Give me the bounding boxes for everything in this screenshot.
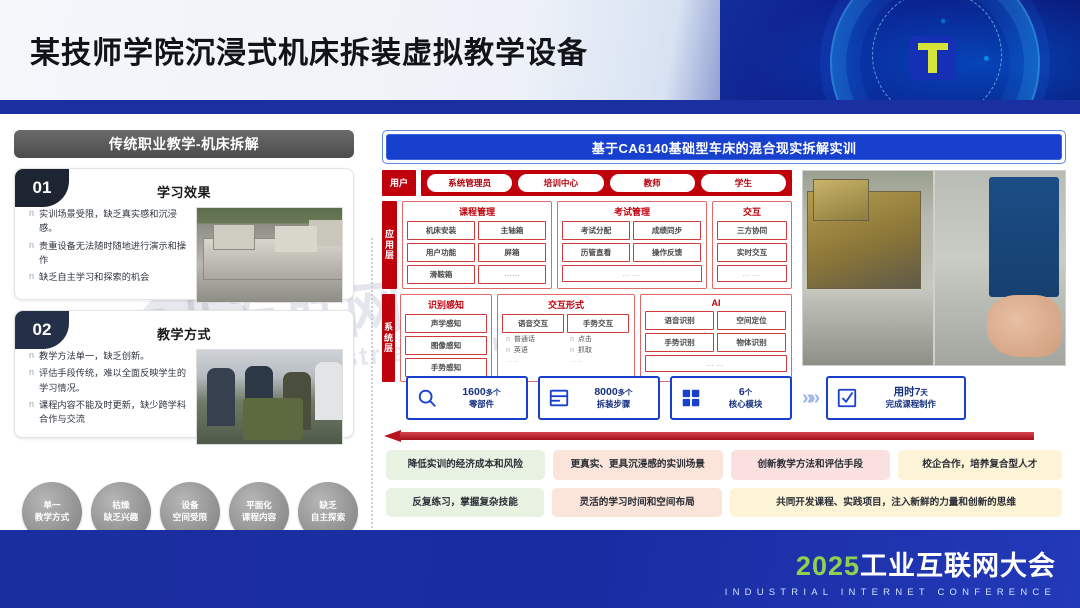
stats-row: 1600多个 零部件 8000多个 拆装步骤 [406, 376, 1046, 420]
benefit-chip: 反复练习，掌握复杂技能 [386, 488, 544, 518]
benefit-chip: 共同开发课程、实践项目，注入新鲜的力量和创新的思维 [730, 488, 1062, 518]
list-item: n英语 [506, 346, 566, 357]
benefits-row-2: 反复练习，掌握复杂技能 灵活的学习时间和空间布局 共同开发课程、实践项目，注入新… [386, 488, 1062, 518]
user-role-pill: 学生 [701, 174, 786, 192]
bullet-text: 课程内容不能及时更新，缺少跨学科合作与交流 [39, 398, 190, 427]
benefits-section: 降低实训的经济成本和风险 更真实、更具沉浸感的实训场景 创新教学方法和评估手段 … [386, 450, 1062, 525]
feature-cell-more: …… [478, 265, 546, 284]
header-accent-bar [0, 100, 1080, 114]
group-cells: 考试分配 成绩同步 历管直看 操作反馈 …… [562, 221, 702, 282]
benefits-row-1: 降低实训的经济成本和风险 更真实、更具沉浸感的实训场景 创新教学方法和评估手段 … [386, 450, 1062, 480]
stat-value: 用时7 [894, 386, 921, 398]
stat-text: 6个 核心模块 [709, 386, 782, 411]
stat-label: 拆装步骤 [577, 399, 650, 410]
feature-cell: 主轴箱 [478, 221, 546, 240]
slide-header: 某技师学院沉浸式机床拆装虚拟教学设备 [0, 0, 1080, 100]
list-item: n普通话 [506, 335, 566, 346]
user-role-pill: 系统管理员 [427, 174, 512, 192]
stat-label: 完成课程制作 [865, 399, 956, 410]
sub-item-text: 抓取 [578, 346, 592, 357]
list-item: n评估手段传统，难以全面反映学生的学习情况。 [29, 366, 190, 395]
oval-line2: 空间受限 [173, 512, 207, 524]
stat-value: 8000 [594, 386, 617, 398]
header-logo-icon [910, 36, 956, 80]
sub-item-text: 点击 [578, 335, 592, 346]
group-title: AI [645, 298, 787, 308]
list-item: n实训场景受限，缺乏真实感和沉浸感。 [29, 207, 190, 236]
architecture-row-users: 用户 系统管理员 培训中心 教师 学生 [382, 170, 792, 196]
group-course-management: 课程管理 机床安装 主轴箱 用户功能 屏箱 滑鞍箱 …… [402, 201, 552, 289]
feature-cell: 实时交互 [717, 243, 787, 262]
user-role-pill: 培训中心 [518, 174, 603, 192]
slide-footer: 2025工业互联网大会 INDUSTRIAL INTERNET CONFEREN… [0, 530, 1080, 608]
feature-cell-more: …… [645, 355, 787, 372]
hand-device-photo [934, 170, 1066, 366]
stat-number: 1600多个 [445, 386, 518, 400]
stat-number: 用时7天 [865, 386, 956, 400]
stat-card-modules: 6个 核心模块 [670, 376, 792, 420]
oval-line2: 课程内容 [242, 512, 276, 524]
stat-text: 8000多个 拆装步骤 [577, 386, 650, 411]
card-heading: 学习效果 [25, 182, 343, 201]
interaction-sub-lists: n普通话 n英语 …… n点击 n抓取 …… [502, 333, 630, 367]
sub-list-gesture: n点击 n抓取 …… [566, 335, 630, 367]
sub-item-text: 普通话 [514, 335, 535, 346]
chevron-right-icon: »» [802, 387, 816, 410]
feature-cell: 历管直看 [562, 243, 630, 262]
left-panel-title: 传统职业教学-机床拆解 [14, 130, 354, 158]
card-body: n教学方法单一，缺乏创新。 n评估手段传统，难以全面反映学生的学习情况。 n课程… [25, 349, 343, 445]
group-interaction: 交互 三方协同 实时交互 …… [712, 201, 792, 289]
layer-label-application: 应用层 [382, 201, 397, 289]
right-panel: 基于CA6140基础型车床的混合现实拆解实训 用户 系统管理员 培训中心 教师 … [382, 130, 1066, 530]
bullet-text: 实训场景受限，缺乏真实感和沉浸感。 [39, 207, 190, 236]
architecture-row-application: 应用层 课程管理 机床安装 主轴箱 用户功能 屏箱 滑鞍箱 …… [382, 201, 792, 289]
list-item: n抓取 [570, 346, 630, 357]
arrow-shaft [400, 432, 1034, 440]
user-role-bar: 系统管理员 培训中心 教师 学生 [421, 170, 792, 196]
stat-card-steps: 8000多个 拆装步骤 [538, 376, 660, 420]
bullet-marker-icon: n [29, 207, 34, 236]
right-panel-title-frame: 基于CA6140基础型车床的混合现实拆解实训 [382, 130, 1066, 164]
stat-card-parts: 1600多个 零部件 [406, 376, 528, 420]
stat-unit: 天 [920, 388, 928, 397]
oval-line1: 单一 [43, 500, 60, 512]
group-title: 考试管理 [562, 205, 702, 218]
bullet-marker-icon: n [29, 270, 34, 284]
feature-cell: 考试分配 [562, 221, 630, 240]
stat-unit: 个 [745, 388, 753, 397]
card-number-badge: 02 [15, 311, 69, 349]
stat-label: 核心模块 [709, 399, 782, 410]
conference-logo-main: 2025工业互联网大会 [725, 544, 1056, 583]
bullet-text: 贵重设备无法随时随地进行演示和操作 [39, 239, 190, 268]
benefit-chip: 灵活的学习时间和空间布局 [552, 488, 722, 518]
stat-label: 零部件 [445, 399, 518, 410]
group-recognition: 识别感知 声学感知 图像感知 手势感知 [400, 294, 492, 382]
card-number-badge: 01 [15, 169, 69, 207]
list-item: n教学方法单一，缺乏创新。 [29, 349, 190, 363]
feature-cell: 语音识别 [645, 311, 714, 330]
card-bullet-list: n教学方法单一，缺乏创新。 n评估手段传统，难以全面反映学生的学习情况。 n课程… [25, 349, 190, 445]
system-layer-groups: 识别感知 声学感知 图像感知 手势感知 交互形式 语音交互 手势交互 [400, 294, 792, 382]
feature-cell: 手势感知 [405, 358, 487, 377]
right-panel-title: 基于CA6140基础型车床的混合现实拆解实训 [386, 134, 1062, 160]
oval-line1: 缺乏 [319, 500, 336, 512]
magnifier-icon [416, 387, 438, 409]
list-item: …… [570, 356, 630, 367]
group-title: 课程管理 [407, 205, 547, 218]
checkbox-icon [836, 387, 858, 409]
group-title: 识别感知 [405, 298, 487, 311]
user-role-pill: 教师 [610, 174, 695, 192]
sub-item-text: 英语 [514, 346, 528, 357]
group-cells: 声学感知 图像感知 手势感知 [405, 314, 487, 377]
stat-text: 用时7天 完成课程制作 [865, 386, 956, 411]
arrow-head-icon [384, 430, 401, 442]
sub-item-more: …… [506, 356, 520, 367]
stat-text: 1600多个 零部件 [445, 386, 518, 411]
oval-line2: 教学方式 [35, 512, 69, 524]
card-body: n实训场景受限，缺乏真实感和沉浸感。 n贵重设备无法随时随地进行演示和操作 n缺… [25, 207, 343, 303]
oval-line1: 平面化 [246, 500, 272, 512]
stat-unit: 多个 [618, 388, 633, 397]
list-item: n课程内容不能及时更新，缺少跨学科合作与交流 [29, 398, 190, 427]
oval-line2: 缺乏兴趣 [104, 512, 138, 524]
bullet-marker-icon: n [29, 349, 34, 363]
left-card-02: 02 教学方式 n教学方法单一，缺乏创新。 n评估手段传统，难以全面反映学生的学… [14, 310, 354, 438]
oval-line1: 设备 [181, 500, 198, 512]
benefit-chip: 降低实训的经济成本和风险 [386, 450, 545, 480]
page-title: 某技师学院沉浸式机床拆装虚拟教学设备 [30, 28, 588, 72]
conference-logo: 2025工业互联网大会 INDUSTRIAL INTERNET CONFEREN… [725, 544, 1056, 598]
sub-list-voice: n普通话 n英语 …… [502, 335, 566, 367]
stat-unit: 多个 [486, 388, 501, 397]
stat-card-duration: 用时7天 完成课程制作 [826, 376, 966, 420]
card-bullet-list: n实训场景受限，缺乏真实感和沉浸感。 n贵重设备无法随时随地进行演示和操作 n缺… [25, 207, 190, 303]
sub-item-more: …… [570, 356, 584, 367]
lathe-machine-photo [196, 207, 343, 303]
bullet-text: 评估手段传统，难以全面反映学生的学习情况。 [39, 366, 190, 395]
layer-label-user: 用户 [382, 170, 416, 196]
stat-value: 1600 [462, 386, 485, 398]
bullet-marker-icon: n [570, 335, 574, 346]
group-title: 交互形式 [502, 298, 630, 311]
group-cells: 语音识别 空间定位 手势识别 物体识别 …… [645, 311, 787, 372]
grid-icon [680, 387, 702, 409]
oval-line2: 自主探索 [311, 512, 345, 524]
left-card-01: 01 学习效果 n实训场景受限，缺乏真实感和沉浸感。 n贵重设备无法随时随地进行… [14, 168, 354, 300]
feature-cell: 机床安装 [407, 221, 475, 240]
list-item: …… [506, 356, 566, 367]
stat-number: 8000多个 [577, 386, 650, 400]
lathe-workshop-photo [802, 170, 934, 366]
feature-cell: 图像感知 [405, 336, 487, 355]
group-cells: 三方协同 实时交互 …… [717, 221, 787, 282]
benefit-chip: 创新教学方法和评估手段 [731, 450, 890, 480]
group-exam-management: 考试管理 考试分配 成绩同步 历管直看 操作反馈 …… [557, 201, 707, 289]
benefit-chip: 校企合作，培养复合型人才 [898, 450, 1062, 480]
conference-name-cn: 工业互联网大会 [860, 551, 1056, 581]
feature-cell: 空间定位 [717, 311, 786, 330]
bullet-marker-icon: n [506, 346, 510, 357]
bullet-marker-icon: n [570, 346, 574, 357]
group-ai: AI 语音识别 空间定位 手势识别 物体识别 …… [640, 294, 792, 382]
feature-cell: 用户功能 [407, 243, 475, 262]
list-item: n点击 [570, 335, 630, 346]
group-title: 交互 [717, 205, 787, 218]
left-panel: 传统职业教学-机床拆解 01 学习效果 n实训场景受限，缺乏真实感和沉浸感。 n… [14, 130, 364, 530]
feature-cell: 成绩同步 [633, 221, 701, 240]
bullet-marker-icon: n [506, 335, 510, 346]
bullet-marker-icon: n [29, 398, 34, 427]
feature-cell: 语音交互 [502, 314, 564, 333]
stat-number: 6个 [709, 386, 782, 400]
feature-cell-more: …… [562, 265, 702, 282]
architecture-diagram: 用户 系统管理员 培训中心 教师 学生 应用层 课程管理 [382, 170, 792, 387]
slide-root: 某技师学院沉浸式机床拆装虚拟教学设备 工业互联网 Alliance of Ind… [0, 0, 1080, 608]
group-interaction-forms: 交互形式 语音交互 手势交互 n普通话 n英语 …… [497, 294, 635, 382]
red-arrow-divider [384, 430, 1034, 442]
oval-line1: 枯燥 [112, 500, 129, 512]
application-layer-groups: 课程管理 机床安装 主轴箱 用户功能 屏箱 滑鞍箱 …… 考试管理 [402, 201, 792, 289]
feature-cell: 滑鞍箱 [407, 265, 475, 284]
card-heading: 教学方式 [25, 324, 343, 343]
layer-label-system: 系统层 [382, 294, 395, 382]
feature-cell: 物体识别 [717, 333, 786, 352]
bullet-marker-icon: n [29, 366, 34, 395]
feature-cell: 三方协同 [717, 221, 787, 240]
conference-name-en: INDUSTRIAL INTERNET CONFERENCE [725, 587, 1056, 598]
group-cells: 语音交互 手势交互 [502, 314, 630, 333]
benefit-chip: 更真实、更具沉浸感的实训场景 [553, 450, 723, 480]
feature-cell: 屏箱 [478, 243, 546, 262]
slide-body: 工业互联网 Alliance of Industrial Internet 传统… [0, 114, 1080, 530]
feature-cell: 手势交互 [567, 314, 629, 333]
layers-icon [548, 387, 570, 409]
list-item: n贵重设备无法随时随地进行演示和操作 [29, 239, 190, 268]
group-cells: 机床安装 主轴箱 用户功能 屏箱 滑鞍箱 …… [407, 221, 547, 284]
conference-year: 2025 [796, 551, 860, 581]
bullet-marker-icon: n [29, 239, 34, 268]
feature-cell: 手势识别 [645, 333, 714, 352]
architecture-row-system: 系统层 识别感知 声学感知 图像感知 手势感知 交互形式 [382, 294, 792, 382]
feature-cell: 声学感知 [405, 314, 487, 333]
bullet-text: 缺乏自主学习和探索的机会 [39, 270, 149, 284]
classroom-training-photo [196, 349, 343, 445]
feature-cell-more: …… [717, 265, 787, 282]
bullet-text: 教学方法单一，缺乏创新。 [39, 349, 149, 363]
right-photo-strip [802, 170, 1066, 366]
feature-cell: 操作反馈 [633, 243, 701, 262]
list-item: n缺乏自主学习和探索的机会 [29, 270, 190, 284]
